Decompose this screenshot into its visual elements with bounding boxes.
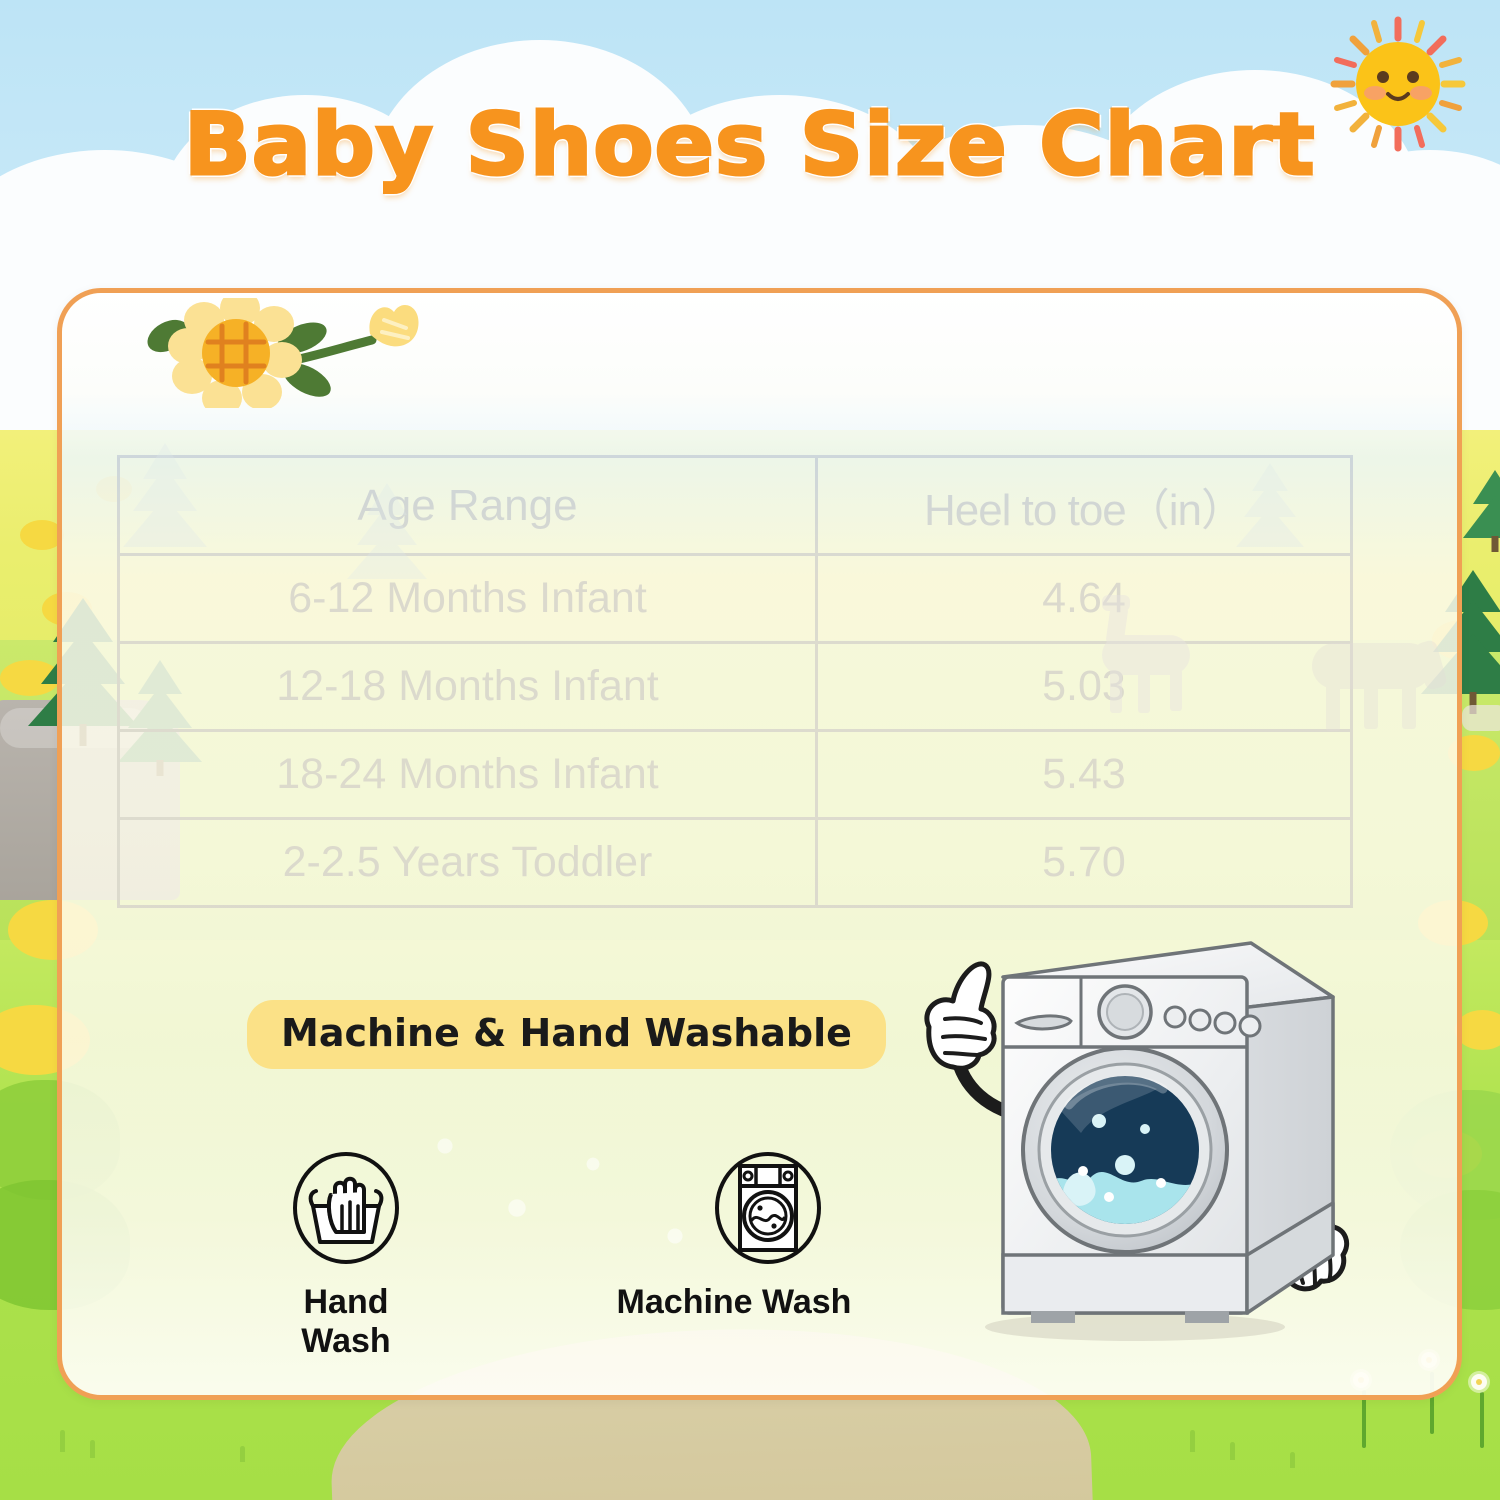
grass-blade [90, 1440, 95, 1458]
daisy [1471, 1374, 1487, 1390]
grass-blade [60, 1430, 65, 1452]
hand-wash-label: Hand Wash [263, 1283, 429, 1361]
watermark-tree [120, 443, 210, 573]
machine-wash-care-item: Machine Wash [584, 1150, 884, 1322]
snow-speck [502, 1193, 532, 1223]
grass-blade [1230, 1442, 1235, 1460]
washable-badge: Machine & Hand Washable [247, 1000, 886, 1069]
sunflower-and-tulip-icon [122, 298, 422, 408]
machine-wash-label: Machine Wash [584, 1283, 884, 1322]
horse-silhouette [1462, 705, 1500, 731]
page-title: Baby Shoes Size Chart [0, 95, 1500, 195]
snow-speck [432, 1133, 458, 1159]
machine-wash-icon [685, 1150, 851, 1270]
grass-blade [1190, 1430, 1195, 1452]
hand-wash-care-item: Hand Wash [263, 1150, 429, 1361]
grass-blade [1290, 1452, 1295, 1468]
watermark-tree [1230, 463, 1310, 573]
hand-wash-icon [263, 1150, 429, 1270]
watermark-tree [342, 483, 432, 603]
washing-machine-mascot [885, 925, 1365, 1355]
grass-blade [240, 1446, 245, 1462]
smiling-sun-icon [1328, 14, 1468, 154]
watermark-horse [1094, 593, 1204, 713]
page-title-text: Baby Shoes Size Chart [184, 95, 1316, 195]
watermark-horse [1302, 623, 1452, 733]
daisy-stem [1480, 1392, 1484, 1448]
